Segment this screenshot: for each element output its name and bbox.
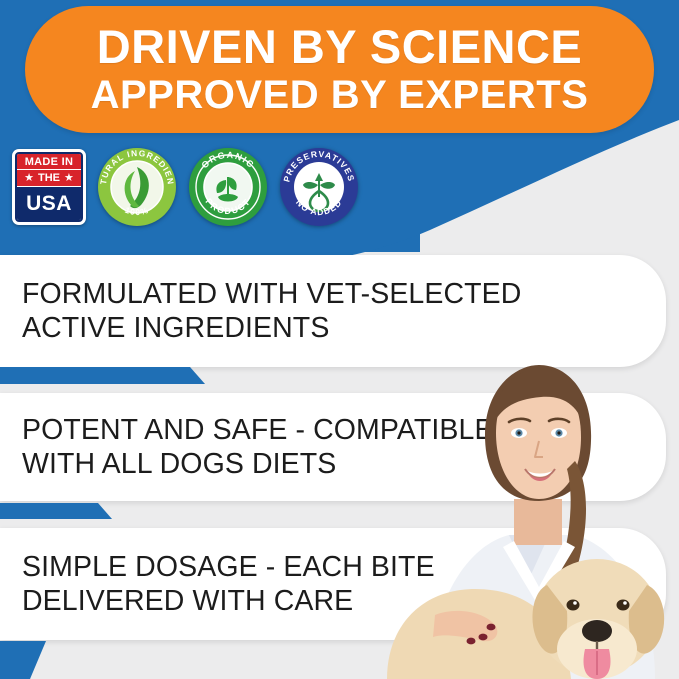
feature-1-line-2: ACTIVE INGREDIENTS [22,311,666,345]
feature-3-line-2: DELIVERED WITH CARE [22,584,666,618]
headline-line-2: APPROVED BY EXPERTS [91,73,589,117]
organic-product-badge: ORGANIC PRODUCT [188,147,268,227]
no-added-preservatives-badge: PRESERVATIVES NO ADDED [279,147,359,227]
leaf-icon: NATURAL INGREDIENTS 100% [97,147,177,227]
feature-3-line-1: SIMPLE DOSAGE - EACH BITE [22,550,666,584]
divider-chevron-1 [0,367,205,384]
usa-the-label: THE [38,172,60,184]
headline-banner: DRIVEN BY SCIENCE APPROVED BY EXPERTS [25,6,654,133]
feature-card-safety: POTENT AND SAFE - COMPATIBLE WITH ALL DO… [0,393,666,501]
infographic-root: DRIVEN BY SCIENCE APPROVED BY EXPERTS MA… [0,0,679,679]
made-in-usa-badge: MADE IN ★ THE ★ USA [12,149,86,225]
flag-shield-icon: MADE IN ★ THE ★ USA [12,149,86,225]
plant-drop-icon: PRESERVATIVES NO ADDED [279,147,359,227]
usa-line-the: ★ THE ★ [17,170,81,187]
feature-1-line-1: FORMULATED WITH VET-SELECTED [22,277,666,311]
trust-badges-row: MADE IN ★ THE ★ USA [12,147,359,227]
feature-card-ingredients: FORMULATED WITH VET-SELECTED ACTIVE INGR… [0,255,666,367]
headline-line-1: DRIVEN BY SCIENCE [97,22,583,72]
star-icon-right: ★ [64,173,74,184]
feature-2-line-1: POTENT AND SAFE - COMPATIBLE [22,413,666,447]
usa-line-usa: USA [17,187,81,220]
feature-card-dosage: SIMPLE DOSAGE - EACH BITE DELIVERED WITH… [0,528,666,640]
usa-line-made-in: MADE IN [17,154,81,170]
sprout-icon: ORGANIC PRODUCT [188,147,268,227]
feature-2-line-2: WITH ALL DOGS DIETS [22,447,666,481]
natural-ingredients-badge: NATURAL INGREDIENTS 100% [97,147,177,227]
star-icon-left: ★ [24,173,34,184]
divider-chevron-2 [0,503,112,519]
